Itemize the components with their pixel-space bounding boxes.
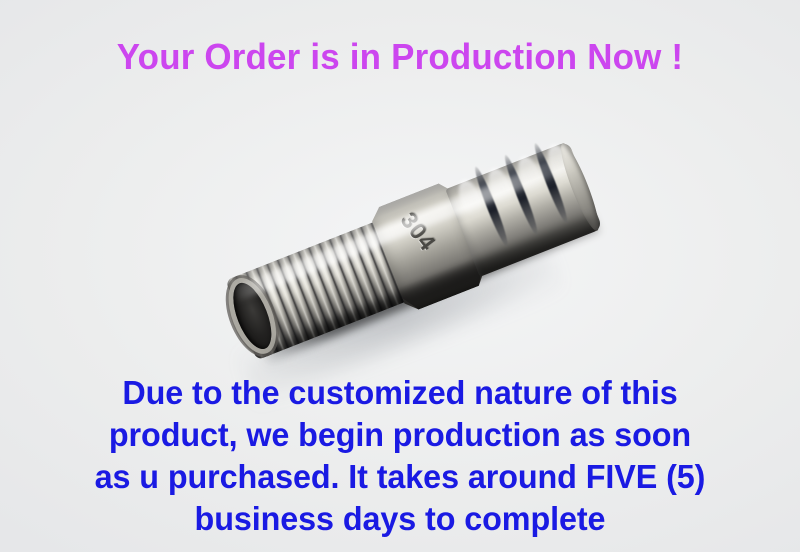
page-title: Your Order is in Production Now !	[12, 36, 788, 78]
notice-line: product, we begin production as soon	[8, 414, 792, 456]
notice-text: Due to the customized nature of this pro…	[0, 372, 800, 540]
promo-banner: Your Order is in Production Now ! 304	[0, 0, 800, 552]
notice-line: business days to complete	[8, 498, 792, 540]
notice-line: as u purchased. It takes around FIVE (5)	[8, 456, 792, 498]
notice-line: Due to the customized nature of this	[8, 372, 792, 414]
product-image: 304	[210, 140, 610, 380]
